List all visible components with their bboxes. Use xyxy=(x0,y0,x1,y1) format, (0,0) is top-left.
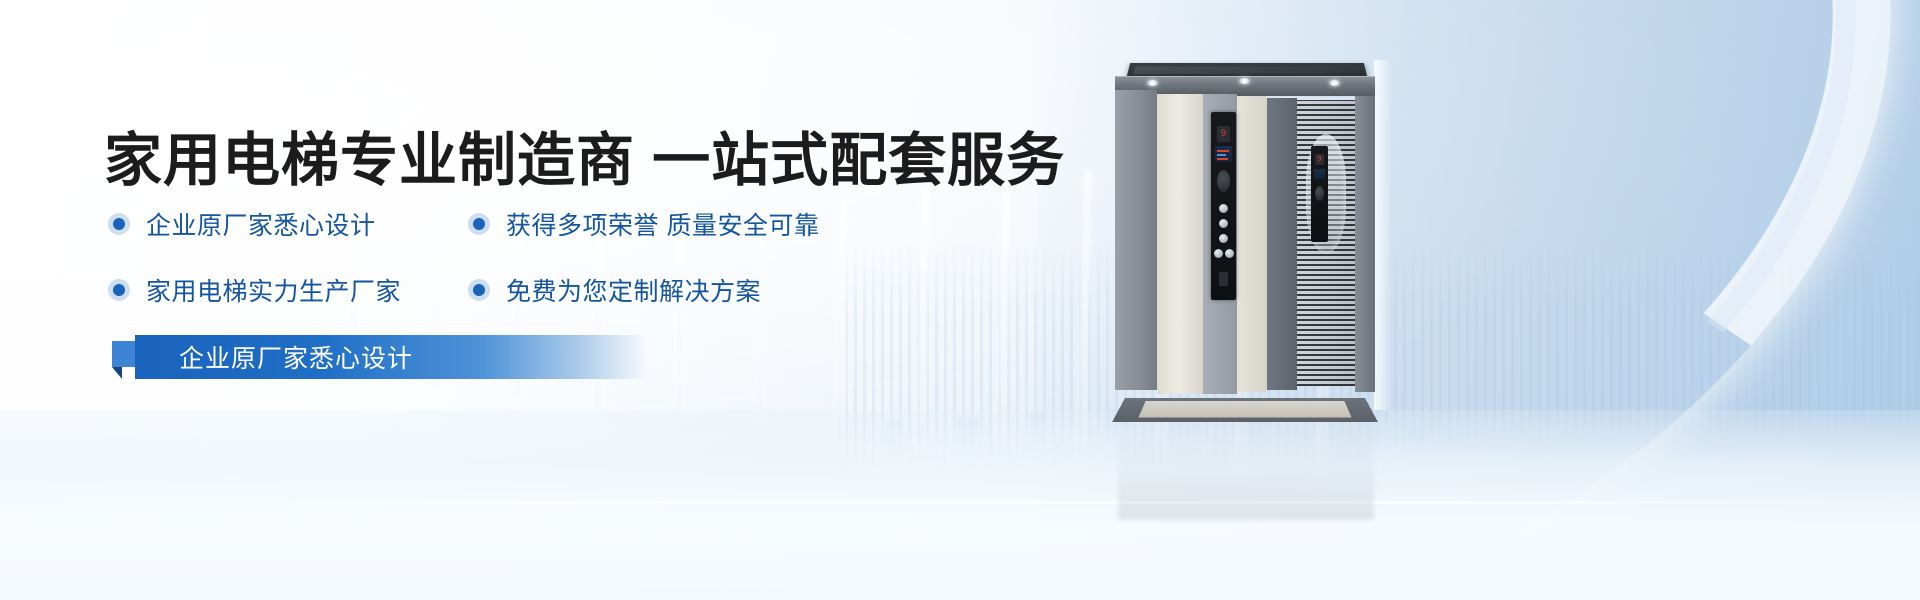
feature-list: 企业原厂家悉心设计 获得多项荣誉 质量安全可靠 家用电梯实力生产厂家 免费为您定… xyxy=(108,206,958,338)
floor-indicator-secondary: 9 xyxy=(1315,154,1324,165)
feature-row: 家用电梯实力生产厂家 免费为您定制解决方案 xyxy=(108,272,958,308)
list-item: 企业原厂家悉心设计 xyxy=(108,206,468,242)
list-item: 获得多项荣誉 质量安全可靠 xyxy=(468,206,938,242)
elevator-floor-slab xyxy=(1112,398,1378,422)
elevator-interior: 9 9 xyxy=(1115,90,1375,408)
feature-label: 获得多项荣誉 质量安全可靠 xyxy=(506,206,819,242)
bullet-dot-icon xyxy=(468,213,490,235)
ceiling-light-icon xyxy=(1147,80,1158,86)
highlight-tag: 企业原厂家悉心设计 xyxy=(135,335,647,379)
lcd-display-icon xyxy=(1215,146,1232,162)
lcd-display-secondary-icon xyxy=(1314,169,1325,179)
feature-label: 免费为您定制解决方案 xyxy=(506,272,761,308)
elevator-cabin-image: 9 9 xyxy=(1115,46,1375,411)
floor-indicator: 9 xyxy=(1217,126,1230,142)
door-open-button-icon xyxy=(1214,249,1223,258)
feature-row: 企业原厂家悉心设计 获得多项荣誉 质量安全可靠 xyxy=(108,206,958,242)
elevator-panel-cream xyxy=(1157,94,1203,394)
elevator-panel-cream2 xyxy=(1237,96,1267,392)
door-close-button-icon xyxy=(1225,249,1234,258)
elevator-mirror-wall xyxy=(1297,100,1355,386)
banner-content: 家用电梯专业制造商 一站式配套服务 企业原厂家悉心设计 获得多项荣誉 质量安全可… xyxy=(0,0,1100,600)
highlight-tag-label: 企业原厂家悉心设计 xyxy=(179,339,413,375)
bullet-dot-icon xyxy=(468,279,490,301)
panel-strip xyxy=(1219,272,1228,286)
floor-button-icon xyxy=(1219,234,1228,243)
glass-fin xyxy=(1374,60,1390,410)
floor-button-icon xyxy=(1219,219,1228,228)
floor-button-icon xyxy=(1219,204,1228,213)
feature-label: 企业原厂家悉心设计 xyxy=(146,206,376,242)
feature-label: 家用电梯实力生产厂家 xyxy=(146,272,401,308)
elevator-control-panel: 9 xyxy=(1211,112,1236,300)
ceiling-light-icon xyxy=(1329,80,1340,86)
speaker-icon xyxy=(1217,170,1230,192)
ceiling-light-icon xyxy=(1239,78,1250,84)
bullet-dot-icon xyxy=(108,213,130,235)
bullet-dot-icon xyxy=(108,279,130,301)
list-item: 家用电梯实力生产厂家 xyxy=(108,272,468,308)
list-item: 免费为您定制解决方案 xyxy=(468,272,938,308)
elevator-control-panel-secondary: 9 xyxy=(1311,146,1328,242)
elevator-panel-right xyxy=(1355,96,1375,392)
elevator-panel-left xyxy=(1115,90,1157,390)
speaker-secondary-icon xyxy=(1315,186,1324,201)
promo-banner: 9 9 家用电梯专业制造商 一站式配套服务 xyxy=(0,0,1920,600)
page-title: 家用电梯专业制造商 一站式配套服务 xyxy=(104,113,1065,197)
elevator-panel-dark xyxy=(1267,98,1297,390)
